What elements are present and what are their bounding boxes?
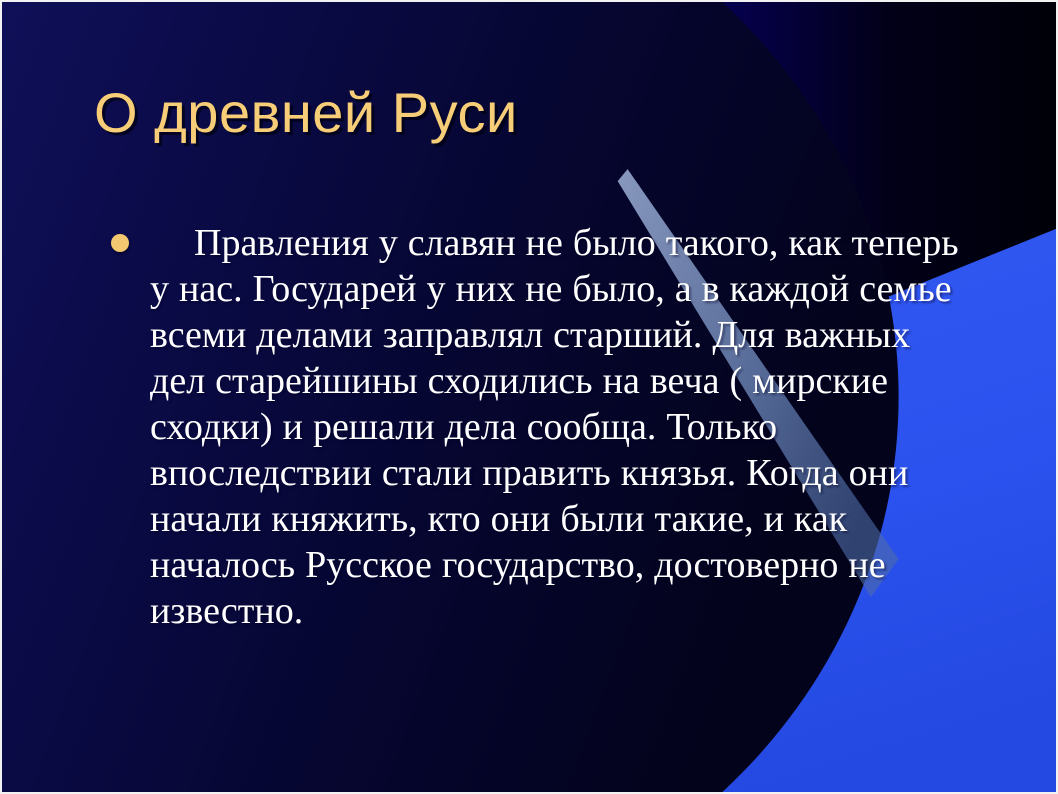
bullet-list-item: Правления у славян не было такого, как т… — [108, 220, 966, 634]
presentation-slide: О древней Руси Правления у славян не был… — [0, 0, 1058, 794]
bullet-paragraph: Правления у славян не было такого, как т… — [150, 220, 966, 634]
bullet-dot-icon — [111, 234, 129, 252]
slide-body: Правления у славян не было такого, как т… — [108, 220, 966, 634]
slide-title: О древней Руси — [94, 82, 518, 145]
